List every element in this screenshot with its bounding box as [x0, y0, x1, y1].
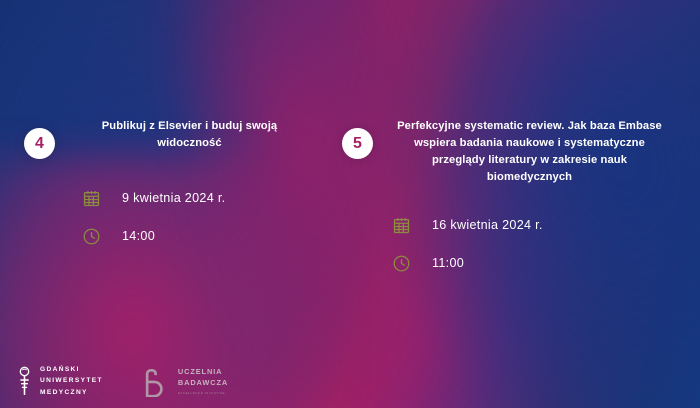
event-number-badge: 5	[342, 128, 373, 159]
gumed-line-3: MEDYCZNY	[40, 387, 103, 398]
event-header: 5 Perfekcyjne systematic review. Jak baz…	[338, 118, 678, 186]
event-card-4: 4 Publikuj z Elsevier i buduj swoją wido…	[18, 118, 328, 247]
presentation-slide: 4 Publikuj z Elsevier i buduj swoją wido…	[0, 0, 700, 408]
gumed-caduceus-icon	[16, 366, 33, 396]
uczelnia-badawcza-logo: UCZELNIA BADAWCZA EXCELLENCE INITIATIVE	[139, 366, 228, 397]
event-card-5: 5 Perfekcyjne systematic review. Jak baz…	[338, 118, 678, 274]
ub-line-2: BADAWCZA	[178, 378, 228, 389]
event-number-badge: 4	[24, 128, 55, 159]
event-title: Publikuj z Elsevier i buduj swoją widocz…	[55, 118, 328, 152]
ub-subtitle: EXCELLENCE INITIATIVE	[178, 391, 228, 395]
gumed-line-2: UNIWERSYTET	[40, 375, 103, 386]
ub-line-1: UCZELNIA	[178, 367, 228, 378]
gumed-logo: GDAŃSKI UNIWERSYTET MEDYCZNY	[16, 364, 103, 398]
event-date: 9 kwietnia 2024 r.	[122, 191, 225, 205]
gumed-line-1: GDAŃSKI	[40, 364, 103, 375]
clock-icon	[390, 252, 412, 274]
clock-icon	[80, 225, 102, 247]
uczelnia-badawcza-icon	[139, 366, 170, 397]
event-header: 4 Publikuj z Elsevier i buduj swoją wido…	[18, 118, 328, 159]
uczelnia-badawcza-wordmark: UCZELNIA BADAWCZA EXCELLENCE INITIATIVE	[178, 367, 228, 394]
event-date-row: 16 kwietnia 2024 r.	[338, 214, 678, 236]
event-time-row: 14:00	[18, 225, 328, 247]
event-time: 14:00	[122, 229, 155, 243]
event-date: 16 kwietnia 2024 r.	[432, 218, 543, 232]
footer-logos: GDAŃSKI UNIWERSYTET MEDYCZNY UCZELNIA BA…	[16, 364, 228, 398]
calendar-icon	[80, 187, 102, 209]
event-time: 11:00	[432, 256, 464, 270]
event-time-row: 11:00	[338, 252, 678, 274]
event-title: Perfekcyjne systematic review. Jak baza …	[373, 118, 678, 186]
calendar-icon	[390, 214, 412, 236]
event-date-row: 9 kwietnia 2024 r.	[18, 187, 328, 209]
slide-content: 4 Publikuj z Elsevier i buduj swoją wido…	[0, 0, 700, 408]
gumed-wordmark: GDAŃSKI UNIWERSYTET MEDYCZNY	[40, 364, 103, 398]
